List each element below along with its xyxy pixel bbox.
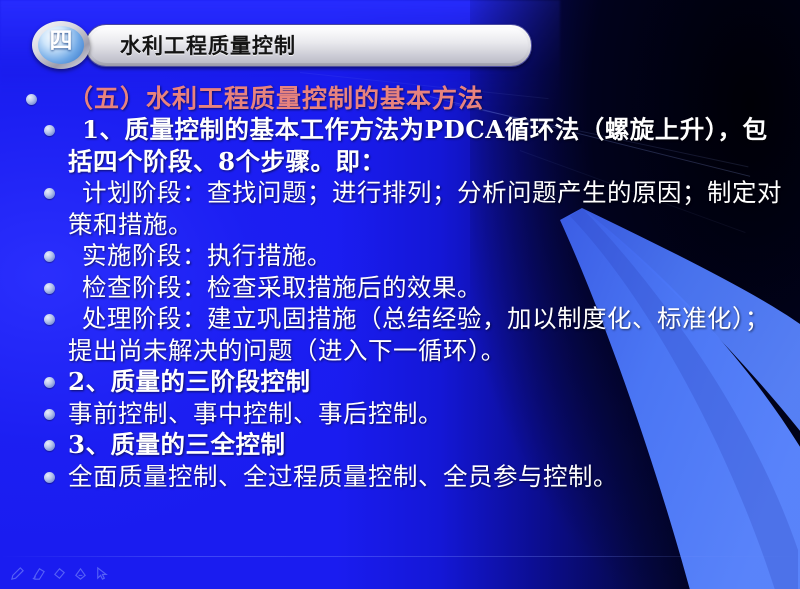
eraser-icon[interactable] [52, 566, 67, 581]
bullet-dot-icon [44, 188, 55, 199]
bullet-dot-icon [44, 409, 55, 420]
highlighter-icon[interactable] [31, 566, 46, 581]
bullet-item: 检查阶段：检查采取措施后的效果。 [30, 272, 786, 304]
arrow-pointer-icon[interactable] [94, 566, 109, 581]
bullet-list: 1、质量控制的基本工作方法为PDCA循环法（螺旋上升），包括四个阶段、8个步骤。… [0, 114, 800, 492]
section-number-badge: 四 [30, 22, 92, 68]
bullet-item: 实施阶段：执行措施。 [30, 240, 786, 272]
bullet-dot-icon [44, 314, 55, 325]
bullet-dot-icon [44, 440, 55, 451]
bullet-text: 计划阶段：查找问题；进行排列；分析问题产生的原因；制定对策和措施。 [68, 177, 786, 240]
slide-title: 水利工程质量控制 [120, 30, 296, 60]
bullet-dot-icon [44, 283, 55, 294]
bullet-text: 3、质量的三全控制 [68, 429, 786, 461]
bullet-item: 全面质量控制、全过程质量控制、全员参与控制。 [30, 461, 786, 493]
bullet-item: 1、质量控制的基本工作方法为PDCA循环法（螺旋上升），包括四个阶段、8个步骤。… [30, 114, 786, 177]
bullet-item: 2、质量的三阶段控制 [30, 366, 786, 398]
bullet-item: 计划阶段：查找问题；进行排列；分析问题产生的原因；制定对策和措施。 [30, 177, 786, 240]
presentation-slide: 水利工程质量控制 四 （五）水利工程质量控制的基本方法 1、质量控制的基本工作方… [0, 0, 800, 589]
bullet-dot-icon [44, 377, 55, 388]
slideshow-ink-toolbar[interactable] [10, 566, 109, 581]
pen-icon[interactable] [10, 566, 25, 581]
slide-body: （五）水利工程质量控制的基本方法 1、质量控制的基本工作方法为PDCA循环法（螺… [0, 84, 800, 492]
bullet-item: 处理阶段：建立巩固措施（总结经验，加以制度化、标准化）；提出尚未解决的问题（进入… [30, 303, 786, 366]
ink-options-icon[interactable] [73, 566, 88, 581]
section-heading-label: （五）水利工程质量控制的基本方法 [68, 84, 484, 113]
bullet-text: 处理阶段：建立巩固措施（总结经验，加以制度化、标准化）；提出尚未解决的问题（进入… [68, 303, 786, 366]
bullet-text: 2、质量的三阶段控制 [68, 366, 786, 398]
section-heading: （五）水利工程质量控制的基本方法 [0, 84, 800, 114]
bullet-text: 检查阶段：检查采取措施后的效果。 [68, 272, 786, 304]
bullet-dot-icon [44, 251, 55, 262]
slide-title-bar: 水利工程质量控制 四 [30, 22, 530, 68]
bullet-item: 3、质量的三全控制 [30, 429, 786, 461]
bullet-item: 事前控制、事中控制、事后控制。 [30, 398, 786, 430]
bullet-text: 实施阶段：执行措施。 [68, 240, 786, 272]
bullet-dot-icon [44, 472, 55, 483]
bullet-dot-icon [44, 125, 55, 136]
bottom-divider [0, 556, 800, 557]
bullet-text: 全面质量控制、全过程质量控制、全员参与控制。 [68, 461, 786, 493]
badge-number-label: 四 [30, 25, 92, 57]
heading-bullet-icon [26, 94, 37, 105]
bullet-text: 事前控制、事中控制、事后控制。 [68, 398, 786, 430]
bullet-text: 1、质量控制的基本工作方法为PDCA循环法（螺旋上升），包括四个阶段、8个步骤。… [68, 114, 786, 177]
